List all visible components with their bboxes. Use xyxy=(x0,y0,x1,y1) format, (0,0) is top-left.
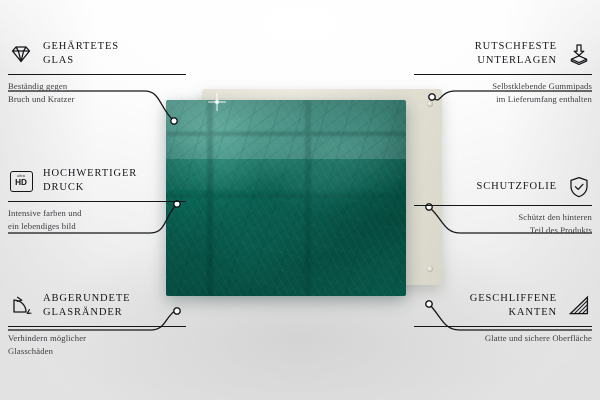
hd-badge-main-text: HD xyxy=(15,179,27,187)
feature-title-line: GESCHLIFFENE xyxy=(470,292,557,306)
window-reflection xyxy=(166,100,406,296)
feature-subtitle: Glatte und sichere Oberfläche xyxy=(414,332,592,345)
glass-board-surface xyxy=(166,100,406,296)
feature-divider xyxy=(8,74,186,75)
feature-title-line: DRUCK xyxy=(43,181,137,195)
feature-subtitle-line: Selbstklebende Gummipads xyxy=(414,80,592,93)
ultra-hd-badge-icon: ultra HD xyxy=(8,168,34,194)
feature-divider xyxy=(414,205,592,206)
feature-subtitle-line: Glasschäden xyxy=(8,345,186,358)
feature-tempered-glass: GEHÄRTETES GLAS Beständig gegen Bruch un… xyxy=(8,40,186,106)
feature-title: ABGERUNDETE GLASRÄNDER xyxy=(43,292,130,321)
feature-subtitle-line: Schützt den hinteren xyxy=(414,211,592,224)
feature-subtitle: Verhindern möglicher Glasschäden xyxy=(8,332,186,358)
feature-subtitle: Schützt den hinteren Teil des Produkts xyxy=(414,211,592,237)
feature-subtitle-line: ein lebendiges bild xyxy=(8,220,186,233)
feature-header: GESCHLIFFENE KANTEN xyxy=(414,292,592,321)
shield-check-icon xyxy=(566,174,592,200)
feature-divider xyxy=(414,326,592,327)
feature-title: GEHÄRTETES GLAS xyxy=(43,40,119,69)
feature-subtitle: Selbstklebende Gummipads im Lieferumfang… xyxy=(414,80,592,106)
feature-print-quality: ultra HD HOCHWERTIGER DRUCK Intensive fa… xyxy=(8,167,186,233)
feature-subtitle: Beständig gegen Bruch und Kratzer xyxy=(8,80,186,106)
feature-polished-edges: GESCHLIFFENE KANTEN Glatte und sichere O… xyxy=(414,292,592,345)
feature-subtitle-line: im Lieferumfang enthalten xyxy=(414,93,592,106)
feature-subtitle-line: Verhindern möglicher xyxy=(8,332,186,345)
feature-title-line: ABGERUNDETE xyxy=(43,292,130,306)
feature-title: HOCHWERTIGER DRUCK xyxy=(43,167,137,196)
feature-title: SCHUTZFOLIE xyxy=(477,180,557,194)
feature-title-line: GEHÄRTETES xyxy=(43,40,119,54)
feature-divider xyxy=(8,326,186,327)
feature-title-line: KANTEN xyxy=(470,306,557,320)
anti-slip-pad-icon xyxy=(566,41,592,67)
feature-title-line: GLASRÄNDER xyxy=(43,306,130,320)
feature-title-line: UNTERLAGEN xyxy=(475,54,557,68)
feature-subtitle-line: Teil des Produkts xyxy=(414,224,592,237)
hd-badge: ultra HD xyxy=(10,171,33,192)
feature-title: GESCHLIFFENE KANTEN xyxy=(470,292,557,321)
rounded-corner-icon xyxy=(8,293,34,319)
feature-divider xyxy=(414,74,592,75)
feature-title: RUTSCHFESTE UNTERLAGEN xyxy=(475,40,557,69)
feature-anti-slip-pads: RUTSCHFESTE UNTERLAGEN Selbstklebende Gu… xyxy=(414,40,592,106)
feature-header: SCHUTZFOLIE xyxy=(414,174,592,200)
feature-title-line: HOCHWERTIGER xyxy=(43,167,137,181)
feature-header: RUTSCHFESTE UNTERLAGEN xyxy=(414,40,592,69)
diamond-icon xyxy=(8,41,34,67)
feature-subtitle-line: Glatte und sichere Oberfläche xyxy=(414,332,592,345)
feature-subtitle-line: Intensive farben und xyxy=(8,207,186,220)
feature-rounded-edges: ABGERUNDETE GLASRÄNDER Verhindern möglic… xyxy=(8,292,186,358)
feature-subtitle: Intensive farben und ein lebendiges bild xyxy=(8,207,186,233)
feature-title-line: SCHUTZFOLIE xyxy=(477,180,557,194)
feature-title-line: RUTSCHFESTE xyxy=(475,40,557,54)
feature-subtitle-line: Bruch und Kratzer xyxy=(8,93,186,106)
feature-header: ABGERUNDETE GLASRÄNDER xyxy=(8,292,186,321)
rubber-pad-bottom-right xyxy=(427,266,433,272)
feature-title-line: GLAS xyxy=(43,54,119,68)
infographic-canvas: GEHÄRTETES GLAS Beständig gegen Bruch un… xyxy=(0,0,600,400)
product-image xyxy=(166,89,442,297)
feature-header: GEHÄRTETES GLAS xyxy=(8,40,186,69)
polished-edge-icon xyxy=(566,293,592,319)
feature-header: ultra HD HOCHWERTIGER DRUCK xyxy=(8,167,186,196)
feature-subtitle-line: Beständig gegen xyxy=(8,80,186,93)
feature-divider xyxy=(8,201,186,202)
feature-protective-film: SCHUTZFOLIE Schützt den hinteren Teil de… xyxy=(414,174,592,237)
